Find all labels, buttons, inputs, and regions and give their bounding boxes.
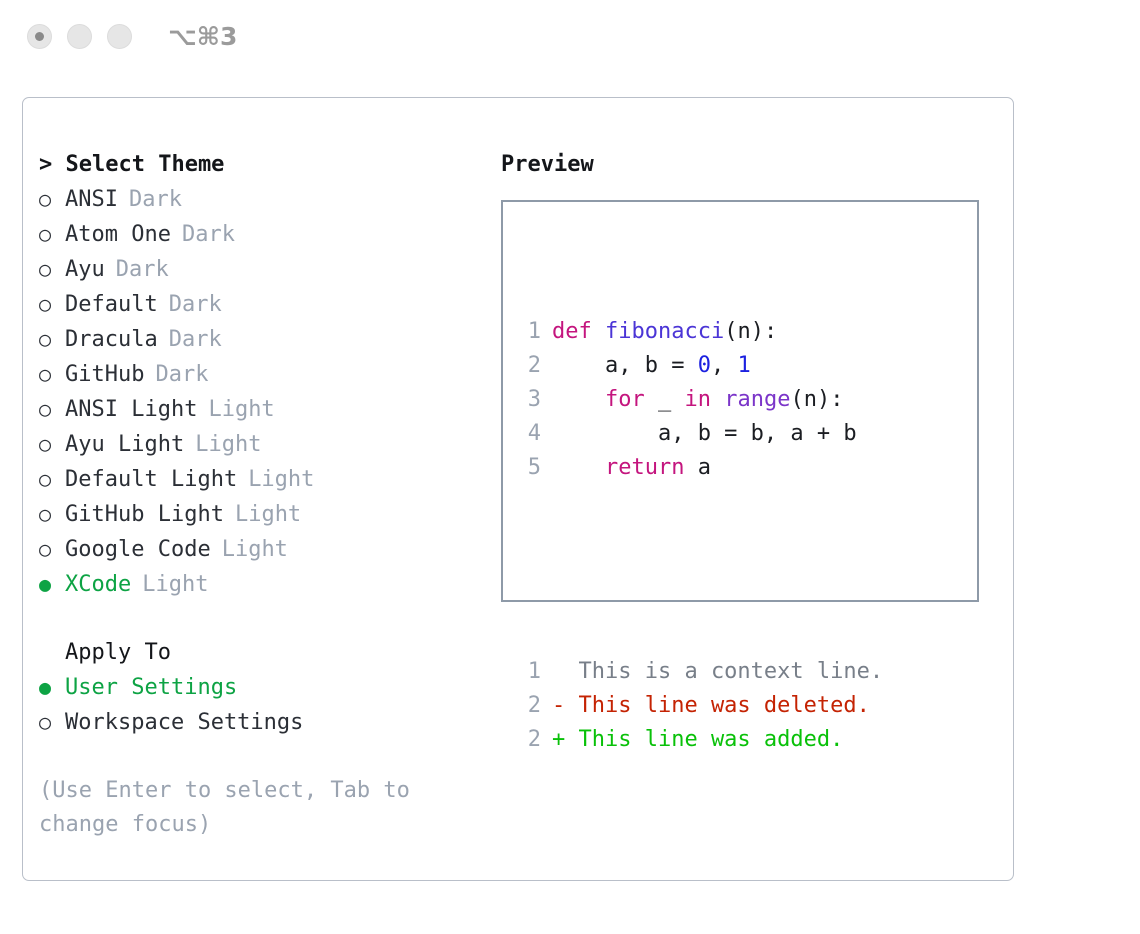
select-theme-heading: > Select Theme: [39, 148, 489, 182]
theme-item[interactable]: ○AyuDark: [39, 252, 489, 287]
title-bar: ⌥⌘3: [0, 0, 1140, 78]
apply-to-option[interactable]: ●User Settings: [39, 670, 489, 705]
apply-to-list: ●User Settings○Workspace Settings: [39, 670, 489, 740]
line-number: 1: [515, 315, 541, 349]
code-line: 1def fibonacci(n):: [515, 315, 883, 349]
theme-item-category: Light: [248, 463, 314, 497]
code-line: 4 a, b = b, a + b: [515, 417, 883, 451]
theme-item-category: Dark: [155, 358, 208, 392]
preview-code: 1def fibonacci(n):2 a, b = 0, 13 for _ i…: [515, 247, 883, 825]
theme-item-category: Light: [235, 498, 301, 532]
code-line-text: a, b = 0, 1: [552, 349, 751, 383]
radio-selected-icon: ●: [39, 670, 65, 704]
preview-column: Preview 1def fibonacci(n):2 a, b = 0, 13…: [501, 148, 1001, 602]
code-token: return: [605, 455, 684, 480]
radio-unselected-icon: ○: [39, 392, 65, 426]
code-token: for: [605, 387, 645, 412]
theme-item[interactable]: ○Atom OneDark: [39, 217, 489, 252]
app-window: ⌥⌘3 > Select Theme ○ANSIDark○Atom OneDar…: [0, 0, 1140, 934]
code-line: 5 return a: [515, 451, 883, 485]
apply-to-option[interactable]: ○Workspace Settings: [39, 705, 489, 740]
radio-unselected-icon: ○: [39, 497, 65, 531]
theme-item-label: Dracula: [65, 323, 158, 357]
traffic-light-close[interactable]: [27, 24, 52, 49]
diff-line: 1 This is a context line.: [515, 655, 883, 689]
theme-item-label: Ayu Light: [65, 428, 184, 462]
theme-item[interactable]: ○GitHub LightLight: [39, 497, 489, 532]
theme-item[interactable]: ○Default LightLight: [39, 462, 489, 497]
theme-item[interactable]: ○DefaultDark: [39, 287, 489, 322]
diff-sample: 1 This is a context line.2- This line wa…: [515, 655, 883, 757]
theme-item-label: GitHub: [65, 358, 144, 392]
code-line-text: for _ in range(n):: [552, 383, 843, 417]
code-token: 0: [698, 353, 711, 378]
list-spacer: [39, 602, 489, 636]
theme-item-category: Dark: [129, 183, 182, 217]
theme-item[interactable]: ○DraculaDark: [39, 322, 489, 357]
traffic-lights: [27, 24, 132, 49]
radio-unselected-icon: ○: [39, 287, 65, 321]
theme-selector-column: > Select Theme ○ANSIDark○Atom OneDark○Ay…: [39, 148, 489, 842]
theme-item-category: Dark: [116, 253, 169, 287]
radio-unselected-icon: ○: [39, 427, 65, 461]
apply-to-label: Workspace Settings: [65, 706, 303, 740]
line-number: 2: [515, 349, 541, 383]
apply-to-heading: Apply To: [39, 636, 489, 670]
radio-unselected-icon: ○: [39, 357, 65, 391]
code-line-text: a, b = b, a + b: [552, 417, 857, 451]
theme-item-label: Atom One: [65, 218, 171, 252]
code-line-text: return a: [552, 451, 711, 485]
code-token: a, b =: [552, 353, 698, 378]
preview-box: 1def fibonacci(n):2 a, b = 0, 13 for _ i…: [501, 200, 979, 602]
code-line-text: def fibonacci(n):: [552, 315, 777, 349]
theme-item-label: Google Code: [65, 533, 211, 567]
theme-item-label: Default Light: [65, 463, 237, 497]
theme-item[interactable]: ○ANSI LightLight: [39, 392, 489, 427]
diff-line-text: - This line was deleted.: [552, 689, 870, 723]
theme-item[interactable]: ●XCodeLight: [39, 567, 489, 602]
line-number: 2: [515, 689, 541, 723]
radio-unselected-icon: ○: [39, 462, 65, 496]
theme-item-category: Light: [208, 393, 274, 427]
theme-item-label: XCode: [65, 568, 131, 602]
radio-unselected-icon: ○: [39, 532, 65, 566]
main-panel: > Select Theme ○ANSIDark○Atom OneDark○Ay…: [22, 97, 1014, 881]
preview-heading: Preview: [501, 148, 1001, 182]
code-token: fibonacci: [605, 319, 724, 344]
code-token: in: [684, 387, 711, 412]
code-token: a, b = b, a + b: [552, 421, 857, 446]
diff-line: 2- This line was deleted.: [515, 689, 883, 723]
code-token: [552, 387, 605, 412]
theme-item-label: ANSI: [65, 183, 118, 217]
theme-item[interactable]: ○Google CodeLight: [39, 532, 489, 567]
code-token: [552, 455, 605, 480]
theme-item-label: ANSI Light: [65, 393, 197, 427]
theme-item[interactable]: ○Ayu LightLight: [39, 427, 489, 462]
code-token: [711, 387, 724, 412]
code-token: (n):: [724, 319, 777, 344]
code-token: [592, 319, 605, 344]
keyboard-hint: (Use Enter to select, Tab to change focu…: [39, 774, 454, 842]
radio-unselected-icon: ○: [39, 252, 65, 286]
code-token: def: [552, 319, 592, 344]
theme-item-label: GitHub Light: [65, 498, 224, 532]
code-diff-gap: [515, 553, 883, 587]
apply-to-label: User Settings: [65, 671, 237, 705]
hint-spacer: [39, 740, 489, 774]
traffic-light-maximize[interactable]: [107, 24, 132, 49]
radio-unselected-icon: ○: [39, 182, 65, 216]
diff-line-text: + This line was added.: [552, 723, 843, 757]
traffic-light-minimize[interactable]: [67, 24, 92, 49]
theme-item[interactable]: ○ANSIDark: [39, 182, 489, 217]
code-token: _: [645, 387, 685, 412]
code-line: 2 a, b = 0, 1: [515, 349, 883, 383]
line-number: 3: [515, 383, 541, 417]
theme-item-category: Light: [142, 568, 208, 602]
diff-line: 2+ This line was added.: [515, 723, 883, 757]
code-sample: 1def fibonacci(n):2 a, b = 0, 13 for _ i…: [515, 315, 883, 485]
theme-item-category: Light: [195, 428, 261, 462]
code-line: 3 for _ in range(n):: [515, 383, 883, 417]
radio-selected-icon: ●: [39, 567, 65, 601]
code-token: range: [724, 387, 790, 412]
radio-unselected-icon: ○: [39, 705, 65, 739]
theme-item-category: Dark: [169, 323, 222, 357]
theme-item-category: Dark: [182, 218, 235, 252]
keyboard-shortcut-label: ⌥⌘3: [168, 22, 237, 51]
theme-item-label: Default: [65, 288, 158, 322]
theme-item[interactable]: ○GitHubDark: [39, 357, 489, 392]
line-number: 5: [515, 451, 541, 485]
theme-item-category: Dark: [169, 288, 222, 322]
theme-item-label: Ayu: [65, 253, 105, 287]
theme-list: ○ANSIDark○Atom OneDark○AyuDark○DefaultDa…: [39, 182, 489, 602]
line-number: 2: [515, 723, 541, 757]
code-token: (n):: [790, 387, 843, 412]
line-number: 4: [515, 417, 541, 451]
code-token: ,: [711, 353, 738, 378]
line-number: 1: [515, 655, 541, 689]
code-token: 1: [737, 353, 750, 378]
radio-unselected-icon: ○: [39, 217, 65, 251]
theme-item-category: Light: [222, 533, 288, 567]
diff-line-text: This is a context line.: [552, 655, 883, 689]
panel-columns: > Select Theme ○ANSIDark○Atom OneDark○Ay…: [23, 98, 1013, 880]
code-token: a: [684, 455, 711, 480]
close-dot-inner: [35, 32, 44, 41]
radio-unselected-icon: ○: [39, 322, 65, 356]
